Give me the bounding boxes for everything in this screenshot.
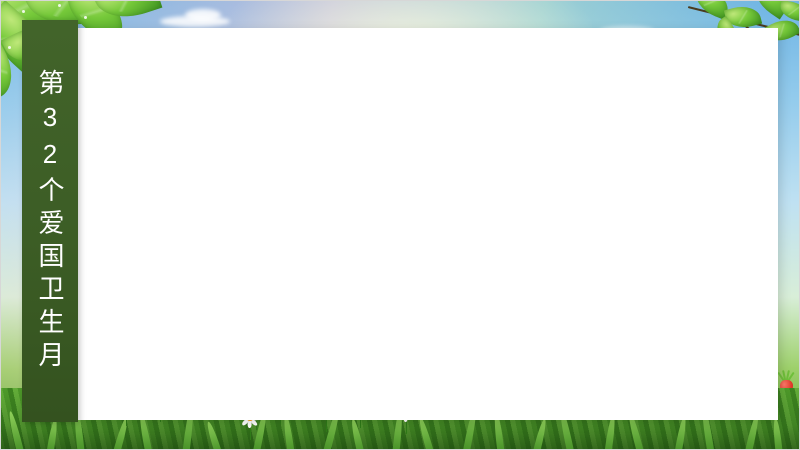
sidebar-banner: 第32个爱国卫生月 xyxy=(22,20,78,422)
content-card xyxy=(78,28,778,420)
cloud-icon xyxy=(185,9,221,21)
slide-canvas: 第32个爱国卫生月 1 大力开展爱国卫生运动历史主题宣传活动 一要讲述爱国卫生运… xyxy=(0,0,800,450)
sidebar-vertical-title: 第32个爱国卫生月 xyxy=(37,69,63,374)
